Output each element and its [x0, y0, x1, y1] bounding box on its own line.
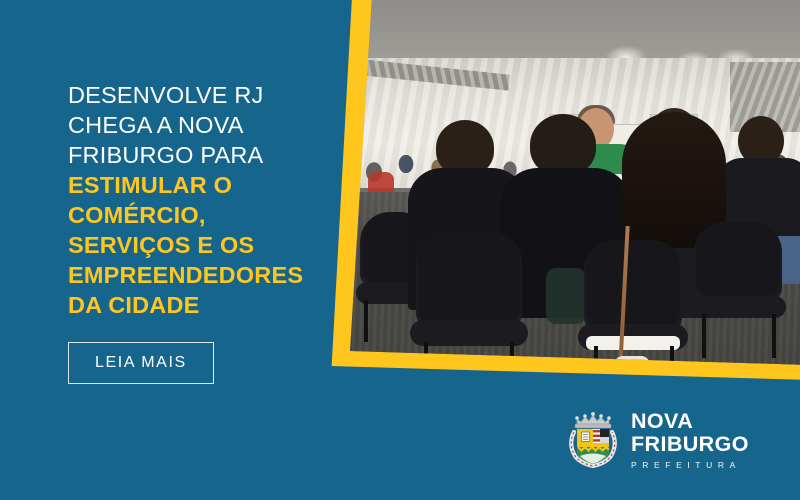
coat-of-arms-icon: [566, 410, 620, 470]
logo-line-prefeitura: PREFEITURA: [631, 461, 749, 470]
event-photo-container: [330, 0, 800, 396]
chair: [690, 222, 786, 358]
headline-line: DESENVOLVE RJ: [68, 80, 330, 110]
headline-line-emphasis: EMPREENDEDORES: [68, 260, 330, 290]
head: [530, 114, 596, 176]
chair-leg: [702, 314, 706, 358]
read-more-button[interactable]: LEIA MAIS: [68, 342, 214, 384]
logo-line-friburgo: FRIBURGO: [631, 434, 749, 456]
chair-back: [584, 240, 682, 332]
chair-cushion: [586, 336, 680, 350]
chair-back: [416, 232, 522, 328]
event-photo: [350, 0, 800, 396]
headline-line: CHEGA A NOVA: [68, 110, 330, 140]
banner-content: DESENVOLVE RJ CHEGA A NOVA FRIBURGO PARA…: [68, 80, 330, 384]
headline-line-emphasis: SERVIÇOS E OS: [68, 230, 330, 260]
headline-line: FRIBURGO PARA: [68, 140, 330, 170]
logo-wordmark: NOVA FRIBURGO PREFEITURA: [631, 411, 749, 470]
chair-leg: [364, 300, 368, 342]
chair: [410, 232, 528, 372]
chair-leg: [772, 314, 776, 358]
promo-banner: DESENVOLVE RJ CHEGA A NOVA FRIBURGO PARA…: [0, 0, 800, 500]
chair-back: [694, 222, 782, 302]
headline-line-emphasis: COMÉRCIO,: [68, 200, 330, 230]
headline-line-emphasis: DA CIDADE: [68, 290, 330, 320]
nova-friburgo-logo[interactable]: NOVA FRIBURGO PREFEITURA: [566, 410, 749, 470]
event-photo-scene: [350, 0, 800, 396]
headline: DESENVOLVE RJ CHEGA A NOVA FRIBURGO PARA…: [68, 80, 330, 320]
logo-line-nova: NOVA: [631, 411, 749, 433]
headline-line-emphasis: ESTIMULAR O: [68, 170, 330, 200]
